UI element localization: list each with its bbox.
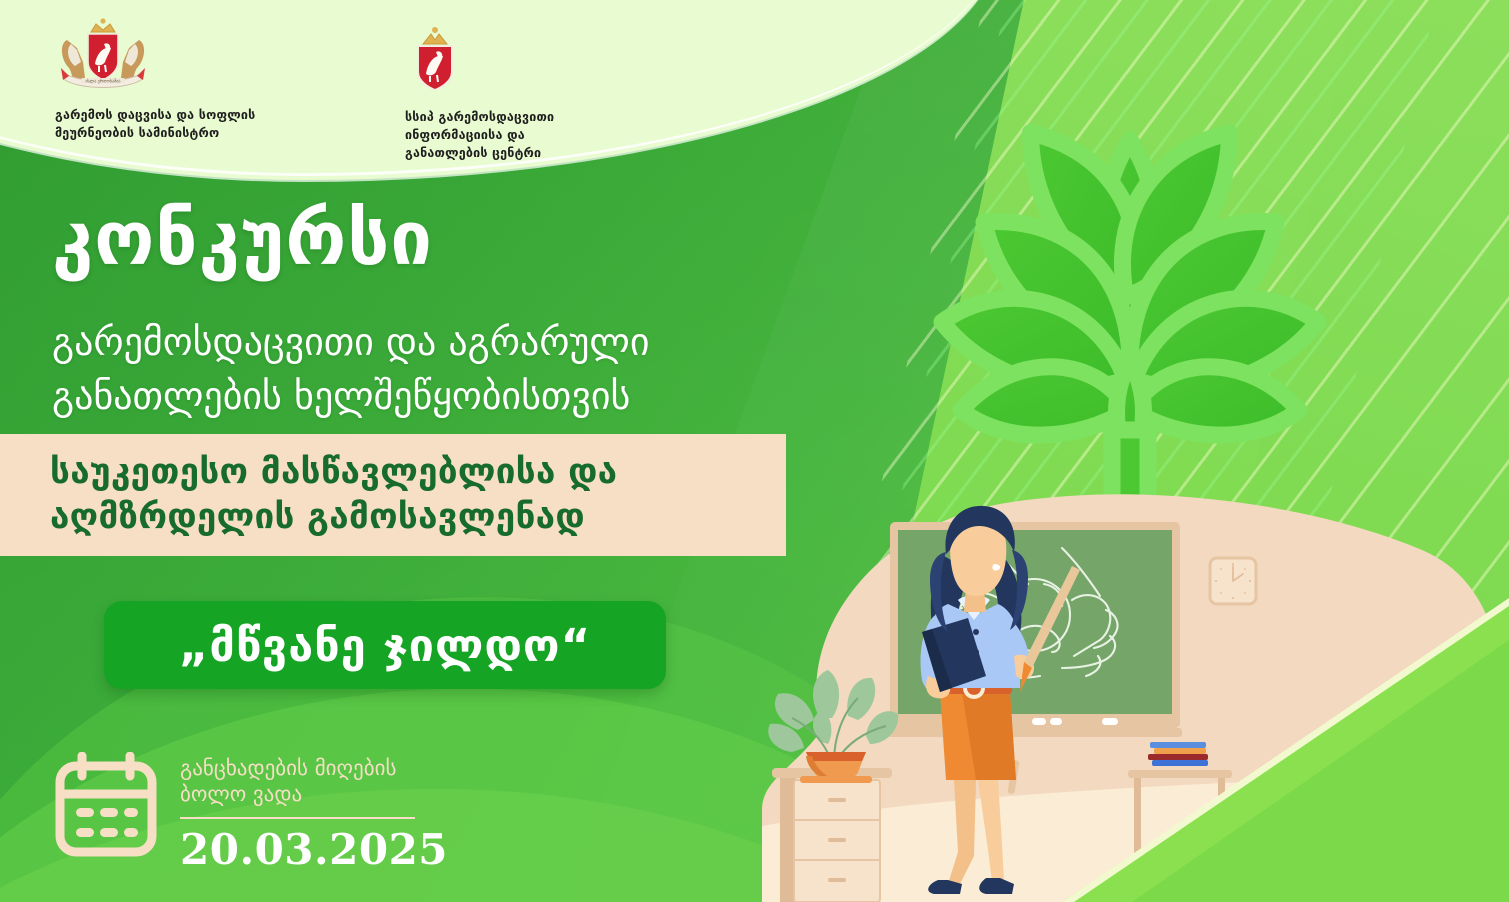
deadline-date: 20.03.2025 [180, 825, 448, 874]
ministry-logo-block: ძალა ერთობაშია გარემოს დაცვისა და სოფლის… [55, 18, 305, 142]
calendar-icon [54, 752, 158, 860]
deadline-text-group: განცხადების მიღების ბოლო ვადა 20.03.2025 [180, 752, 448, 874]
highlight-banner-line-2: აღმზრდელის გამოსავლენად [50, 495, 786, 541]
svg-text:ძალა ერთობაშია: ძალა ერთობაშია [85, 78, 120, 83]
georgian-coat-of-arms-icon: ძალა ერთობაშია [55, 18, 151, 96]
ministry-logo-caption: გარემოს დაცვისა და სოფლის მეურნეობის სამ… [55, 106, 255, 142]
award-name-badge: „მწვანე ჯილდო“ [104, 601, 666, 689]
background-right-wedge [1179, 0, 1509, 560]
deadline-divider [180, 817, 415, 819]
deadline-label: განცხადების მიღების ბოლო ვადა [180, 756, 430, 807]
award-name-label: „მწვანე ჯილდო“ [179, 619, 591, 672]
poster-root: ძალა ერთობაშია გარემოს დაცვისა და სოფლის… [0, 0, 1509, 902]
logo-row: ძალა ერთობაშია გარემოს დაცვისა და სოფლის… [55, 18, 665, 162]
highlight-banner-line-1: საუკეთესო მასწავლებლისა და [50, 450, 786, 496]
page-subtitle: გარემოსდაცვითი და აგრარული განათლების ხე… [52, 316, 650, 424]
georgian-shield-icon [405, 22, 465, 98]
deadline-block: განცხადების მიღების ბოლო ვადა 20.03.2025 [54, 752, 448, 874]
center-logo-block: სსიპ გარემოსდაცვითი ინფორმაციისა და განა… [405, 22, 665, 162]
center-logo-caption: სსიპ გარემოსდაცვითი ინფორმაციისა და განა… [405, 108, 554, 162]
highlight-banner: საუკეთესო მასწავლებლისა და აღმზრდელის გა… [0, 434, 786, 556]
page-title: კონკურსი [52, 202, 433, 276]
